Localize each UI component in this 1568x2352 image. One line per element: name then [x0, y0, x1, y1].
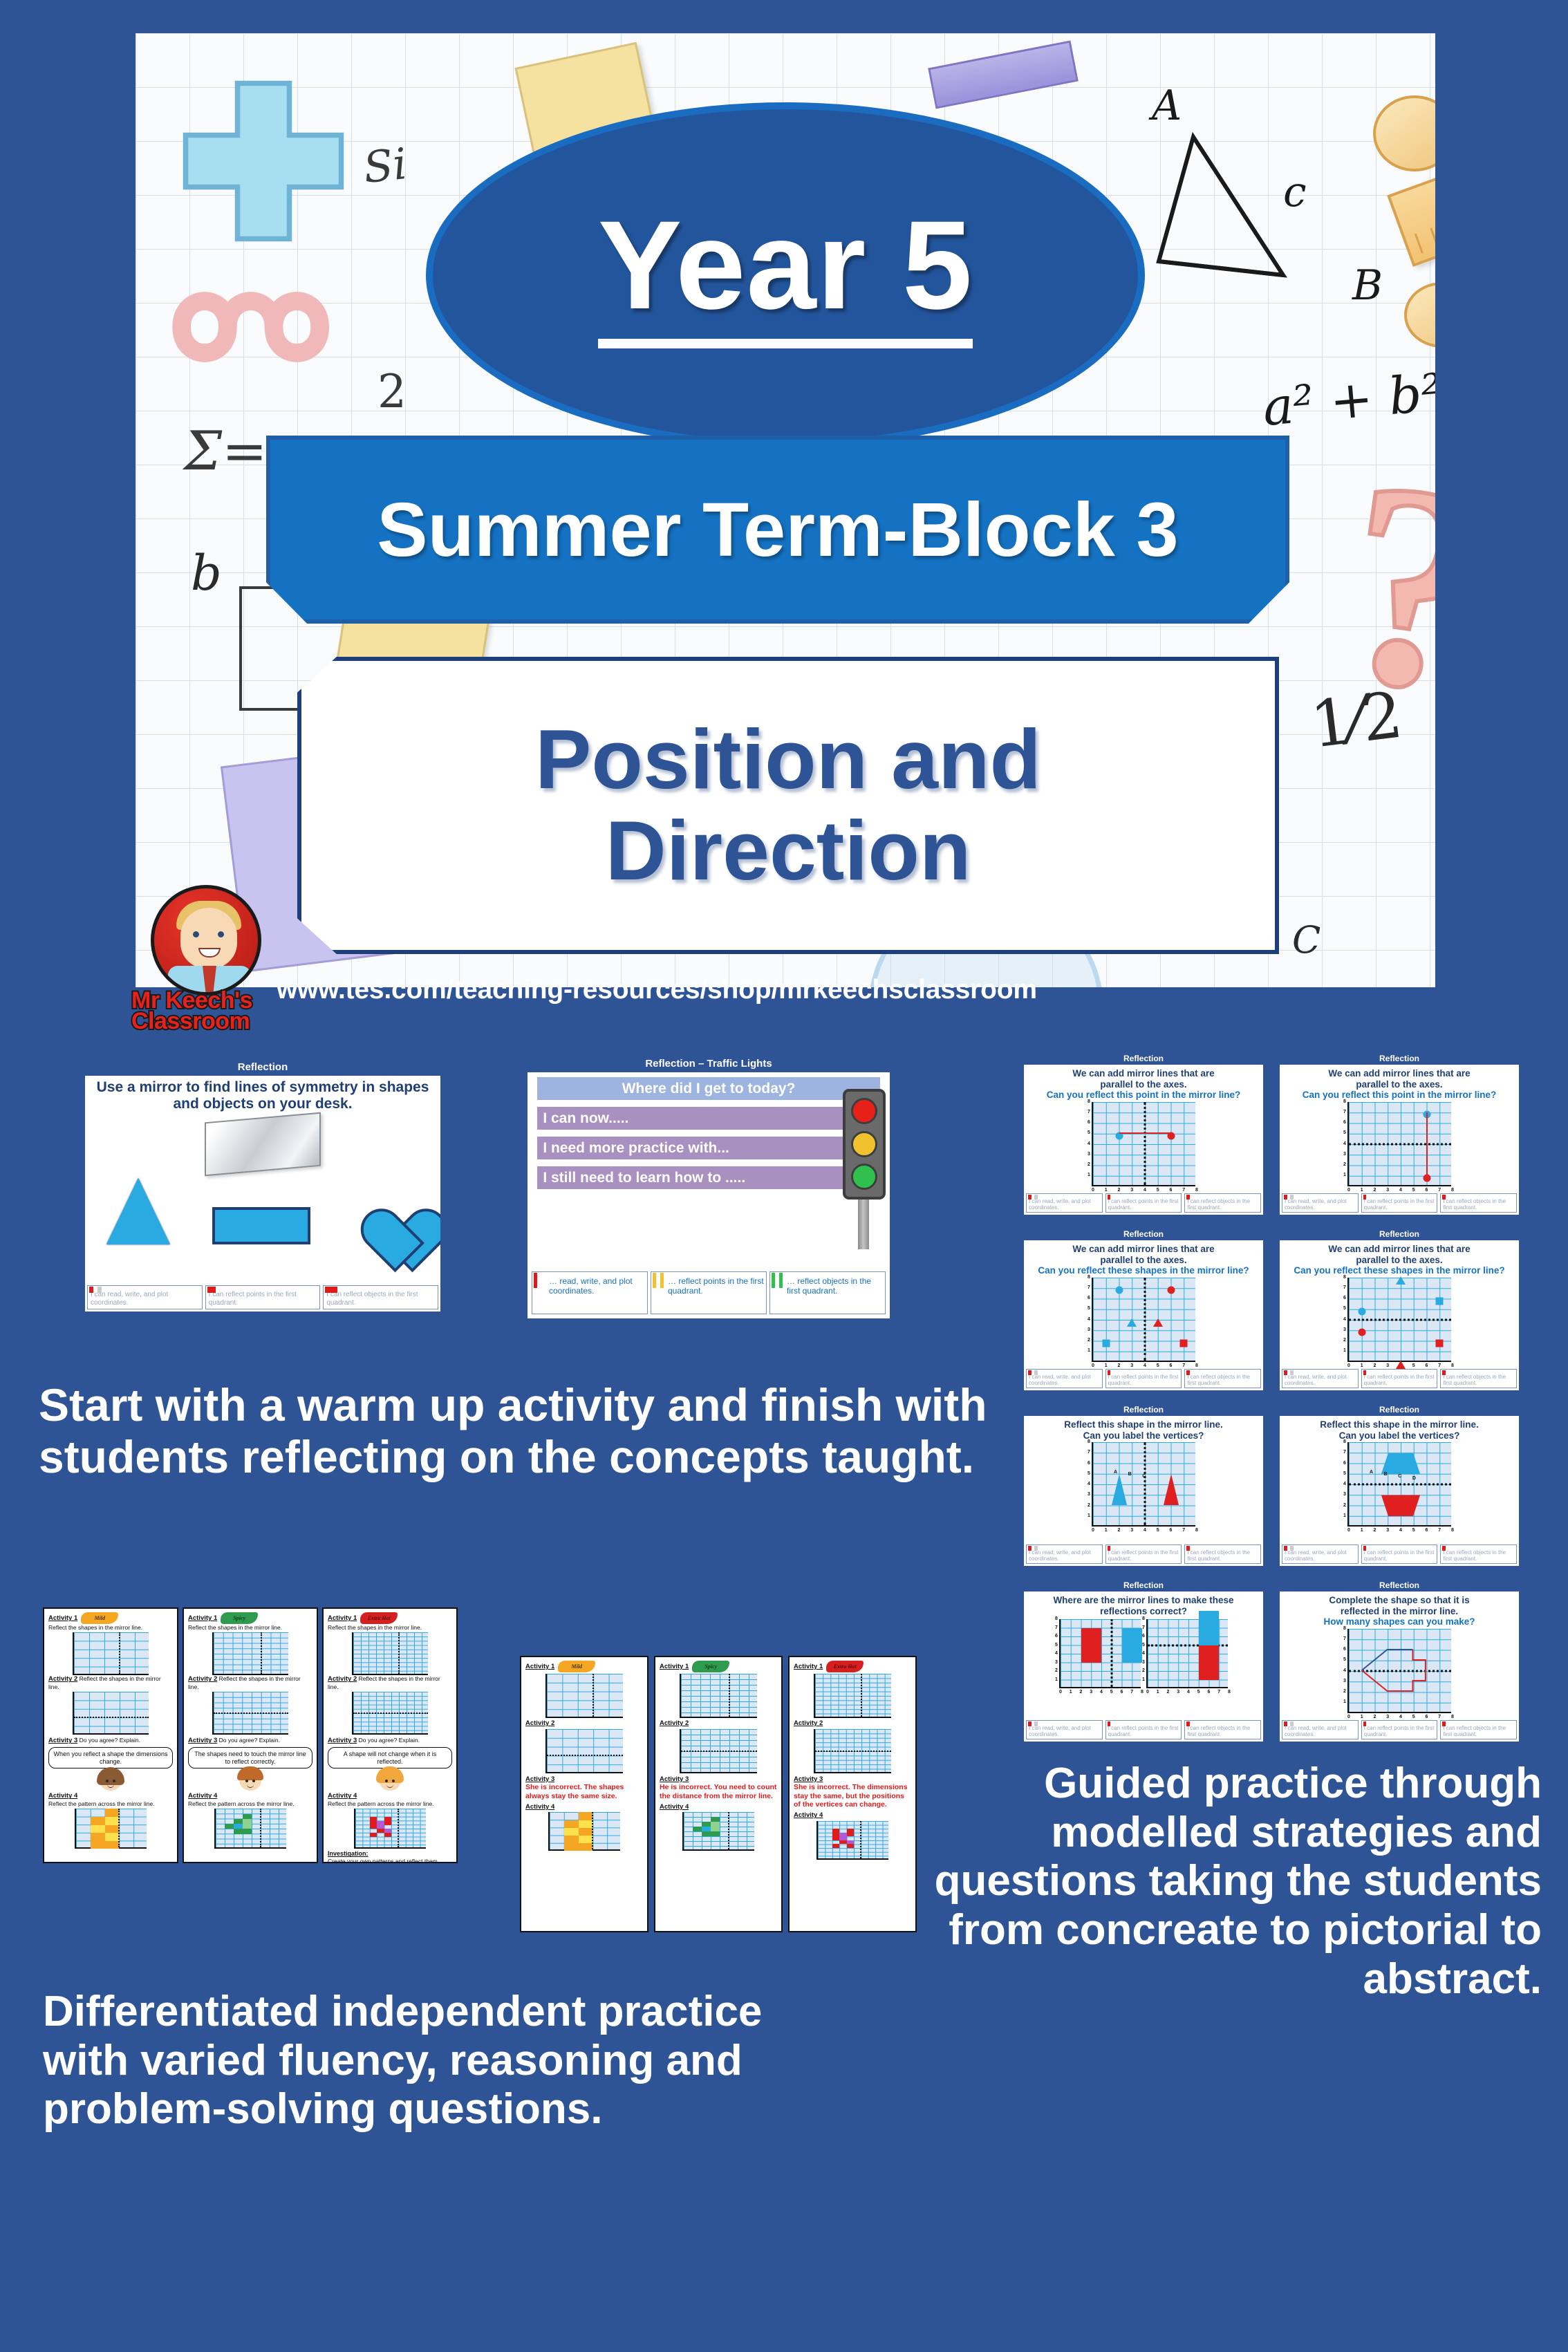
grid-cell-fill — [693, 1827, 702, 1831]
activity-2-header: Activity 2 Reflect the shapes in the mir… — [328, 1675, 452, 1690]
difficulty-label: Mild — [558, 1661, 595, 1672]
warmup-traffic-lights-slide: Reflection – Traffic Lights Where did I … — [525, 1054, 892, 1320]
slide-question-line: reflections correct? — [1100, 1606, 1187, 1617]
y-tick-label: 5 — [1343, 1130, 1346, 1135]
objective-box: I can reflect objects in the first quadr… — [1440, 1193, 1517, 1213]
grid-cell-fill — [105, 1817, 120, 1825]
objective-text: I can reflect points in the first quadra… — [1364, 1725, 1435, 1737]
x-tick-label: 7 — [1438, 1715, 1441, 1719]
activity-1-header: Activity 1Mild — [525, 1661, 643, 1672]
difficulty-chilli-icon: Spicy — [221, 1612, 258, 1624]
y-tick-label: 5 — [1343, 1657, 1346, 1662]
guided-slide[interactable]: ReflectionWe can add mirror lines that a… — [1022, 1051, 1265, 1217]
mirror-line-horizontal — [547, 1755, 623, 1756]
grid-lines — [547, 1729, 623, 1772]
objective-box: … reflect points in the first quadrant. — [651, 1271, 767, 1314]
guided-slide[interactable]: ReflectionWe can add mirror lines that a… — [1278, 1226, 1521, 1392]
mirror-line-horizontal — [1349, 1143, 1451, 1145]
avatar — [151, 885, 261, 996]
grid-cell-fill — [225, 1824, 234, 1829]
y-tick-label: 1 — [1343, 1513, 1346, 1518]
worksheet-grid — [212, 1632, 288, 1675]
objective-box: I can reflect points in the first quadra… — [1105, 1544, 1182, 1564]
coordinate-grid: 01122334455667788 — [1347, 1278, 1451, 1362]
slide-question-line: Where are the mirror lines to make these — [1053, 1595, 1233, 1606]
flag-icon — [1284, 1721, 1294, 1726]
x-tick-label: 4 — [1399, 1188, 1402, 1193]
x-tick-label: 6 — [1426, 1363, 1428, 1368]
flag-icon — [1028, 1721, 1038, 1726]
flag-icon — [207, 1287, 220, 1293]
y-tick-label: 5 — [1088, 1471, 1090, 1476]
mirror-line-vertical — [1144, 1102, 1146, 1185]
flag-icon-amber — [653, 1273, 664, 1288]
flag-icon — [1186, 1546, 1196, 1551]
activity-3-text: Do you agree? Explain. — [217, 1737, 280, 1744]
plotted-square — [1436, 1339, 1444, 1347]
slide-body: We can add mirror lines that areparallel… — [1024, 1065, 1263, 1191]
grid-cell-fill — [370, 1833, 377, 1837]
y-tick-label: 5 — [1088, 1306, 1090, 1311]
y-tick-label: 7 — [1343, 1636, 1346, 1641]
worksheet-grid — [680, 1729, 757, 1773]
slide-title: Reflection — [1280, 1404, 1519, 1416]
y-tick-label: 7 — [1088, 1285, 1090, 1290]
practice-worksheet[interactable]: Activity 1Extra HotReflect the shapes in… — [322, 1607, 458, 1863]
mirror-line-horizontal — [681, 1751, 757, 1752]
y-tick-label: 1 — [1343, 1173, 1346, 1177]
reflection-connector — [1119, 1132, 1171, 1134]
activity-3-header: Activity 3 Do you agree? Explain. — [328, 1737, 452, 1745]
heart-shape — [353, 1181, 419, 1244]
y-tick-label: 7 — [1343, 1110, 1346, 1114]
logo-line-2: Classroom — [131, 1008, 290, 1035]
objective-text: I can reflect objects in the first quadr… — [1443, 1549, 1506, 1562]
y-tick-label: 4 — [1055, 1651, 1058, 1656]
slide-body: Reflect this shape in the mirror line.Ca… — [1280, 1416, 1519, 1542]
x-tick-label: 5 — [1157, 1528, 1159, 1533]
plotted-rect — [1081, 1628, 1102, 1663]
activity-4-header: Activity 4 — [794, 1811, 911, 1820]
grid-cell-fill — [105, 1809, 120, 1817]
traffic-prompt: Where did I get to today? — [537, 1077, 879, 1100]
year-label: Year 5 — [598, 202, 973, 348]
difficulty-chilli-icon: Mild — [81, 1612, 118, 1624]
guided-slide[interactable]: ReflectionComplete the shape so that it … — [1278, 1578, 1521, 1744]
slide-question-line: Can you reflect this point in the mirror… — [1047, 1090, 1241, 1101]
y-tick-label: 6 — [1343, 1647, 1346, 1652]
avatar-eye-left — [193, 931, 199, 937]
grid-cell-fill — [564, 1820, 579, 1828]
grid-cell-fill — [91, 1841, 105, 1849]
mirror-line-horizontal — [214, 1712, 288, 1714]
grid-cell-fill — [579, 1836, 593, 1843]
coordinate-grid: 01122334455667788 — [1347, 1102, 1451, 1186]
plotted-square — [1436, 1297, 1444, 1305]
activity-label: Activity 1 — [188, 1614, 217, 1622]
activity-3-answer: She is incorrect. The shapes always stay… — [525, 1783, 643, 1800]
plotted-triangle — [1112, 1474, 1127, 1505]
y-tick-label: 1 — [1343, 1699, 1346, 1704]
x-tick-label: 5 — [1412, 1363, 1415, 1368]
student-avatar-icon — [100, 1770, 122, 1791]
difficulty-chilli-icon: Mild — [558, 1661, 595, 1672]
objective-text: I can read, write, and plot coordinates. — [1029, 1549, 1091, 1562]
plotted-triangle — [1127, 1318, 1137, 1327]
objective-box: I can read, write, and plot coordinates. — [1282, 1193, 1359, 1213]
grid-cell-fill — [564, 1843, 579, 1851]
x-tick-label: 8 — [1195, 1528, 1198, 1533]
x-tick-label: 1 — [1157, 1690, 1159, 1695]
student-avatar-icon — [379, 1770, 401, 1791]
objective-text: I can reflect points in the first quadra… — [1108, 1725, 1179, 1737]
activity-label: Activity 2 — [328, 1675, 357, 1683]
worksheet-group-answers: Activity 1MildActivity 2Activity 3She is… — [520, 1656, 917, 1932]
x-tick-label: 0 — [1059, 1690, 1062, 1695]
x-tick-label: 3 — [1090, 1690, 1092, 1695]
vertex-label: C — [1142, 1474, 1146, 1479]
y-tick-label: 2 — [1343, 1503, 1346, 1508]
x-tick-label: 0 — [1092, 1363, 1094, 1368]
slide-title: Reflection — [1280, 1229, 1519, 1240]
objective-text: I can reflect points in the first quadra… — [1364, 1549, 1435, 1562]
y-tick-label: 4 — [1142, 1651, 1145, 1656]
difficulty-label: Spicy — [692, 1661, 729, 1672]
guided-slide[interactable]: ReflectionWe can add mirror lines that a… — [1022, 1226, 1265, 1392]
x-tick-label: 3 — [1130, 1363, 1133, 1368]
y-tick-label: 1 — [1142, 1677, 1145, 1682]
activity-2-header: Activity 2 Reflect the shapes in the mir… — [188, 1675, 312, 1690]
slide-title: Reflection — [1280, 1580, 1519, 1592]
flag-icon — [1108, 1546, 1117, 1551]
activity-1-text: Reflect the shapes in the mirror line. — [48, 1624, 173, 1631]
activity-label: Activity 1 — [660, 1663, 689, 1670]
worksheet-grid — [545, 1729, 623, 1773]
answer-worksheet[interactable]: Activity 1MildActivity 2Activity 3She is… — [520, 1656, 648, 1932]
grid-cell-fill — [579, 1812, 593, 1820]
grid-cell-fill — [579, 1820, 593, 1828]
objective-box: I can reflect points in the first quadra… — [205, 1285, 321, 1309]
x-tick-label: 6 — [1170, 1363, 1173, 1368]
grid-lines — [681, 1674, 757, 1717]
objective-text: I can reflect points in the first quadra… — [1108, 1549, 1179, 1562]
activity-4-text: Reflect the pattern across the mirror li… — [188, 1800, 312, 1807]
flag-icon — [1442, 1195, 1452, 1200]
x-tick-label: 1 — [1105, 1528, 1108, 1533]
guided-slide[interactable]: ReflectionWhere are the mirror lines to … — [1022, 1578, 1265, 1744]
objective-text: I can reflect points in the first quadra… — [1364, 1374, 1435, 1386]
y-tick-label: 1 — [1343, 1348, 1346, 1353]
slide-title: Reflection — [1024, 1580, 1263, 1592]
objective-text: I can reflect points in the first quadra… — [1364, 1198, 1435, 1211]
x-tick-label: 0 — [1347, 1715, 1350, 1719]
objective-text: I can read, write, and plot coordinates. — [1029, 1374, 1091, 1386]
mirror-line-vertical — [261, 1632, 262, 1674]
plotted-rect — [1122, 1628, 1143, 1663]
difficulty-label: Extra Hot — [826, 1661, 864, 1672]
flag-icon — [1108, 1721, 1117, 1726]
flag-icon — [1284, 1546, 1294, 1551]
flag-icon — [1186, 1195, 1196, 1200]
activity-label: Activity 1 — [48, 1614, 77, 1622]
mirror-line-vertical — [1144, 1278, 1146, 1361]
objective-box: I can read, write, and plot coordinates. — [1026, 1544, 1103, 1564]
activity-3-answer: She is incorrect. The dimensions stay th… — [794, 1783, 911, 1809]
objective-text: I can reflect objects in the first quadr… — [1443, 1725, 1506, 1737]
objective-box: I can reflect objects in the first quadr… — [1440, 1544, 1517, 1564]
objective-text: I can reflect points in the first quadra… — [1108, 1374, 1179, 1386]
flag-icon — [1028, 1370, 1038, 1375]
x-tick-label: 2 — [1374, 1528, 1376, 1533]
y-tick-label: 4 — [1343, 1141, 1346, 1146]
x-tick-label: 4 — [1144, 1528, 1146, 1533]
x-tick-label: 6 — [1426, 1188, 1428, 1193]
slide-body: We can add mirror lines that areparallel… — [1024, 1240, 1263, 1366]
grid-cell-fill — [579, 1828, 593, 1836]
x-tick-label: 1 — [1361, 1363, 1363, 1368]
x-tick-label: 7 — [1182, 1528, 1185, 1533]
flag-icon — [1186, 1370, 1196, 1375]
answer-worksheet[interactable]: Activity 1Extra HotActivity 2Activity 3S… — [788, 1656, 917, 1932]
traffic-lamp-amber — [851, 1131, 877, 1157]
mirror-icon — [205, 1112, 321, 1177]
objective-box: I can read, write, and plot coordinates. — [1282, 1720, 1359, 1739]
y-tick-label: 2 — [1343, 1162, 1346, 1167]
topic-line-1: Position and — [535, 714, 1041, 805]
activity-label: Activity 2 — [188, 1675, 217, 1683]
vertex-label: B — [1128, 1472, 1132, 1477]
flag-icon — [1186, 1721, 1196, 1726]
triangle-shape — [106, 1178, 170, 1244]
x-tick-label: 6 — [1426, 1715, 1428, 1719]
guided-slide[interactable]: ReflectionWe can add mirror lines that a… — [1278, 1051, 1521, 1217]
objective-box: … read, write, and plot coordinates. — [532, 1271, 648, 1314]
activity-3-speech-bubble: A shape will not change when it is refle… — [328, 1747, 452, 1769]
answer-worksheet[interactable]: Activity 1SpicyActivity 2Activity 3He is… — [654, 1656, 783, 1932]
mirror-line-vertical — [860, 1821, 861, 1858]
x-tick-label: 7 — [1182, 1188, 1185, 1193]
y-tick-label: 3 — [1343, 1327, 1346, 1332]
y-tick-label: 8 — [1343, 1099, 1346, 1104]
coordinate-grid: 01122334455667788 — [1092, 1102, 1195, 1186]
y-tick-label: 4 — [1343, 1668, 1346, 1673]
mirror-line-vertical — [1110, 1619, 1112, 1687]
objective-box: I can reflect points in the first quadra… — [1361, 1544, 1438, 1564]
objective-text: I can reflect objects in the first quadr… — [1187, 1725, 1250, 1737]
x-tick-label: 3 — [1386, 1363, 1389, 1368]
activity-4-header: Activity 4 — [328, 1792, 452, 1800]
shop-url[interactable]: www.tes.com/teaching-resources/shop/mrke… — [277, 975, 1037, 1005]
traffic-lamp-red — [851, 1098, 877, 1124]
x-tick-label: 3 — [1386, 1528, 1389, 1533]
x-tick-label: 0 — [1347, 1528, 1350, 1533]
x-tick-label: 4 — [1100, 1690, 1103, 1695]
coordinate-grid: 01122334455667788 — [1146, 1619, 1228, 1688]
y-tick-label: 2 — [1343, 1689, 1346, 1694]
rectangle-shape — [212, 1207, 310, 1244]
objective-text: … reflect points in the first quadrant. — [668, 1276, 764, 1296]
x-tick-label: 2 — [1374, 1715, 1376, 1719]
promo-bottom-left: Differentiated independent practice with… — [43, 1988, 852, 2134]
x-tick-label: 6 — [1426, 1528, 1428, 1533]
plotted-triangle — [1396, 1361, 1406, 1369]
objective-row: … read, write, and plot coordinates. … r… — [528, 1269, 890, 1318]
y-tick-label: 6 — [1055, 1634, 1058, 1639]
x-tick-label: 7 — [1130, 1690, 1133, 1695]
grid-cell-fill — [91, 1817, 105, 1825]
x-tick-label: 3 — [1386, 1715, 1389, 1719]
objective-row: I can read, write, and plot coordinates.… — [1280, 1718, 1519, 1742]
shape-row — [89, 1178, 436, 1244]
x-tick-label: 5 — [1157, 1363, 1159, 1368]
activity-3-answer: He is incorrect. You need to count the d… — [660, 1783, 777, 1800]
x-tick-label: 6 — [1121, 1690, 1123, 1695]
x-tick-label: 7 — [1182, 1363, 1185, 1368]
activity-4-text: Reflect the pattern across the mirror li… — [328, 1800, 452, 1807]
activity-1-text: Reflect the shapes in the mirror line. — [188, 1624, 312, 1631]
y-tick-label: 6 — [1343, 1120, 1346, 1125]
y-tick-label: 1 — [1088, 1173, 1090, 1177]
grid-lines — [547, 1674, 623, 1717]
flag-icon-red — [534, 1273, 545, 1288]
coordinate-grid: 01122334455667788 — [1347, 1629, 1451, 1713]
slide-question-line: parallel to the axes. — [1356, 1079, 1442, 1090]
guided-practice-grid: ReflectionWe can add mirror lines that a… — [1022, 1051, 1531, 1756]
activity-2-header: Activity 2 — [525, 1719, 643, 1728]
x-tick-label: 8 — [1451, 1528, 1454, 1533]
slide-question-line: Can you reflect this point in the mirror… — [1303, 1090, 1497, 1101]
y-tick-label: 6 — [1088, 1461, 1090, 1466]
activity-3-speech-bubble: The shapes need to touch the mirror line… — [188, 1747, 312, 1769]
objective-box: I can read, write, and plot coordinates. — [1282, 1544, 1359, 1564]
plotted-square — [1180, 1339, 1188, 1347]
mirror-line-vertical — [729, 1674, 730, 1717]
worksheet-grid — [352, 1692, 428, 1735]
slide-question-line: parallel to the axes. — [1356, 1255, 1442, 1266]
flag-icon — [1108, 1370, 1117, 1375]
guided-slide[interactable]: ReflectionReflect this shape in the mirr… — [1022, 1402, 1265, 1568]
grid-cell-fill — [702, 1827, 711, 1831]
grid-cell-fill — [377, 1829, 384, 1833]
activity-1-header: Activity 1Extra Hot — [794, 1661, 911, 1672]
plotted-triangle — [1396, 1276, 1406, 1285]
topic-line-2: Direction — [606, 805, 971, 897]
mirror-line-horizontal — [1349, 1318, 1451, 1320]
objective-text: I can reflect objects in the first quadr… — [1187, 1374, 1250, 1386]
x-tick-label: 4 — [1399, 1715, 1402, 1719]
avatar-face — [180, 908, 237, 969]
objective-text: I can reflect objects in the first quadr… — [1187, 1198, 1250, 1211]
promo-bottom-right: Guided practice through modelled strateg… — [899, 1760, 1542, 2004]
objective-box: … reflect objects in the first quadrant. — [769, 1271, 886, 1314]
practice-worksheet[interactable]: Activity 1SpicyReflect the shapes in the… — [183, 1607, 318, 1863]
x-tick-label: 0 — [1347, 1188, 1350, 1193]
x-tick-label: 5 — [1412, 1528, 1415, 1533]
mirror-line-vertical — [592, 1812, 593, 1849]
x-tick-label: 1 — [1361, 1188, 1363, 1193]
objective-text: I can read, write, and plot coordinates. — [91, 1291, 168, 1307]
worksheet-grid — [212, 1692, 288, 1735]
activity-label: Activity 3 — [328, 1737, 357, 1744]
slide-question-line: Reflect this shape in the mirror line. — [1320, 1419, 1479, 1430]
x-tick-label: 8 — [1141, 1690, 1144, 1695]
y-tick-label: 8 — [1088, 1275, 1090, 1280]
slide-question-line: Can you reflect these shapes in the mirr… — [1294, 1265, 1504, 1276]
slide-body: Reflect this shape in the mirror line.Ca… — [1024, 1416, 1263, 1542]
guided-slide[interactable]: ReflectionReflect this shape in the mirr… — [1278, 1402, 1521, 1568]
grid-cell-fill — [702, 1822, 711, 1827]
slide-title: Reflection — [1024, 1404, 1263, 1416]
y-tick-label: 7 — [1088, 1110, 1090, 1114]
objective-box: I can read, write, and plot coordinates. — [1282, 1369, 1359, 1388]
worksheet-grid — [680, 1674, 757, 1718]
x-tick-label: 7 — [1438, 1528, 1441, 1533]
y-tick-label: 6 — [1343, 1461, 1346, 1466]
objective-text: I can read, write, and plot coordinates. — [1285, 1374, 1347, 1386]
objective-text: … read, write, and plot coordinates. — [549, 1276, 633, 1296]
grid-cell-fill — [234, 1824, 243, 1829]
x-tick-label: 3 — [1386, 1188, 1389, 1193]
x-tick-label: 6 — [1170, 1528, 1173, 1533]
worksheet-grid — [545, 1674, 623, 1718]
slide-question-line: reflected in the mirror line. — [1341, 1606, 1458, 1617]
activity-3-header: Activity 3 Do you agree? Explain. — [48, 1737, 173, 1745]
grid-cell-fill — [579, 1843, 593, 1851]
y-tick-label: 5 — [1343, 1306, 1346, 1311]
activity-3-header: Activity 3 Do you agree? Explain. — [188, 1737, 312, 1745]
worksheet-grid — [73, 1632, 149, 1675]
vertex-label: B — [1384, 1472, 1388, 1477]
objective-box: I can reflect points in the first quadra… — [1361, 1193, 1438, 1213]
mirror-line-horizontal — [353, 1712, 428, 1714]
objective-text: I can read, write, and plot coordinates. — [1285, 1198, 1347, 1211]
y-tick-label: 2 — [1343, 1338, 1346, 1343]
grid-cell-fill — [384, 1833, 391, 1837]
x-tick-label: 8 — [1195, 1363, 1198, 1368]
slide-question-line: How many shapes can you make? — [1323, 1616, 1475, 1627]
term-label: Summer Term-Block 3 — [377, 486, 1178, 574]
y-tick-label: 3 — [1343, 1152, 1346, 1157]
worksheet-grid — [352, 1632, 428, 1675]
y-tick-label: 5 — [1088, 1130, 1090, 1135]
y-tick-label: 3 — [1088, 1327, 1090, 1332]
practice-worksheet[interactable]: Activity 1MildReflect the shapes in the … — [43, 1607, 178, 1863]
objective-box: I can reflect points in the first quadra… — [1105, 1193, 1182, 1213]
grid-cell-fill — [711, 1831, 720, 1836]
difficulty-label: Spicy — [221, 1612, 258, 1624]
objective-box: I can read, write, and plot coordinates. — [1026, 1720, 1103, 1739]
grid-lines — [214, 1632, 288, 1674]
x-tick-label: 2 — [1118, 1363, 1121, 1368]
y-tick-label: 3 — [1343, 1492, 1346, 1497]
flag-icon — [325, 1287, 337, 1293]
y-tick-label: 1 — [1088, 1348, 1090, 1353]
objective-text: … reflect objects in the first quadrant. — [787, 1276, 871, 1296]
investigation-text: Create your own patterns and reflect the… — [328, 1858, 452, 1863]
grid-cell-fill — [839, 1840, 846, 1845]
x-tick-label: 1 — [1361, 1715, 1363, 1719]
avatar-eye-right — [218, 931, 224, 937]
grid-cell-fill — [847, 1844, 854, 1848]
flag-icon — [1442, 1546, 1452, 1551]
worksheet-grid — [814, 1674, 891, 1718]
term-banner: Summer Term-Block 3 — [266, 436, 1289, 624]
x-tick-label: 4 — [1144, 1363, 1146, 1368]
slide-question-line: We can add mirror lines that are — [1328, 1244, 1470, 1255]
grid-cell-fill — [564, 1836, 579, 1843]
activity-1-header: Activity 1Mild — [48, 1612, 173, 1624]
y-tick-label: 1 — [1055, 1677, 1058, 1682]
